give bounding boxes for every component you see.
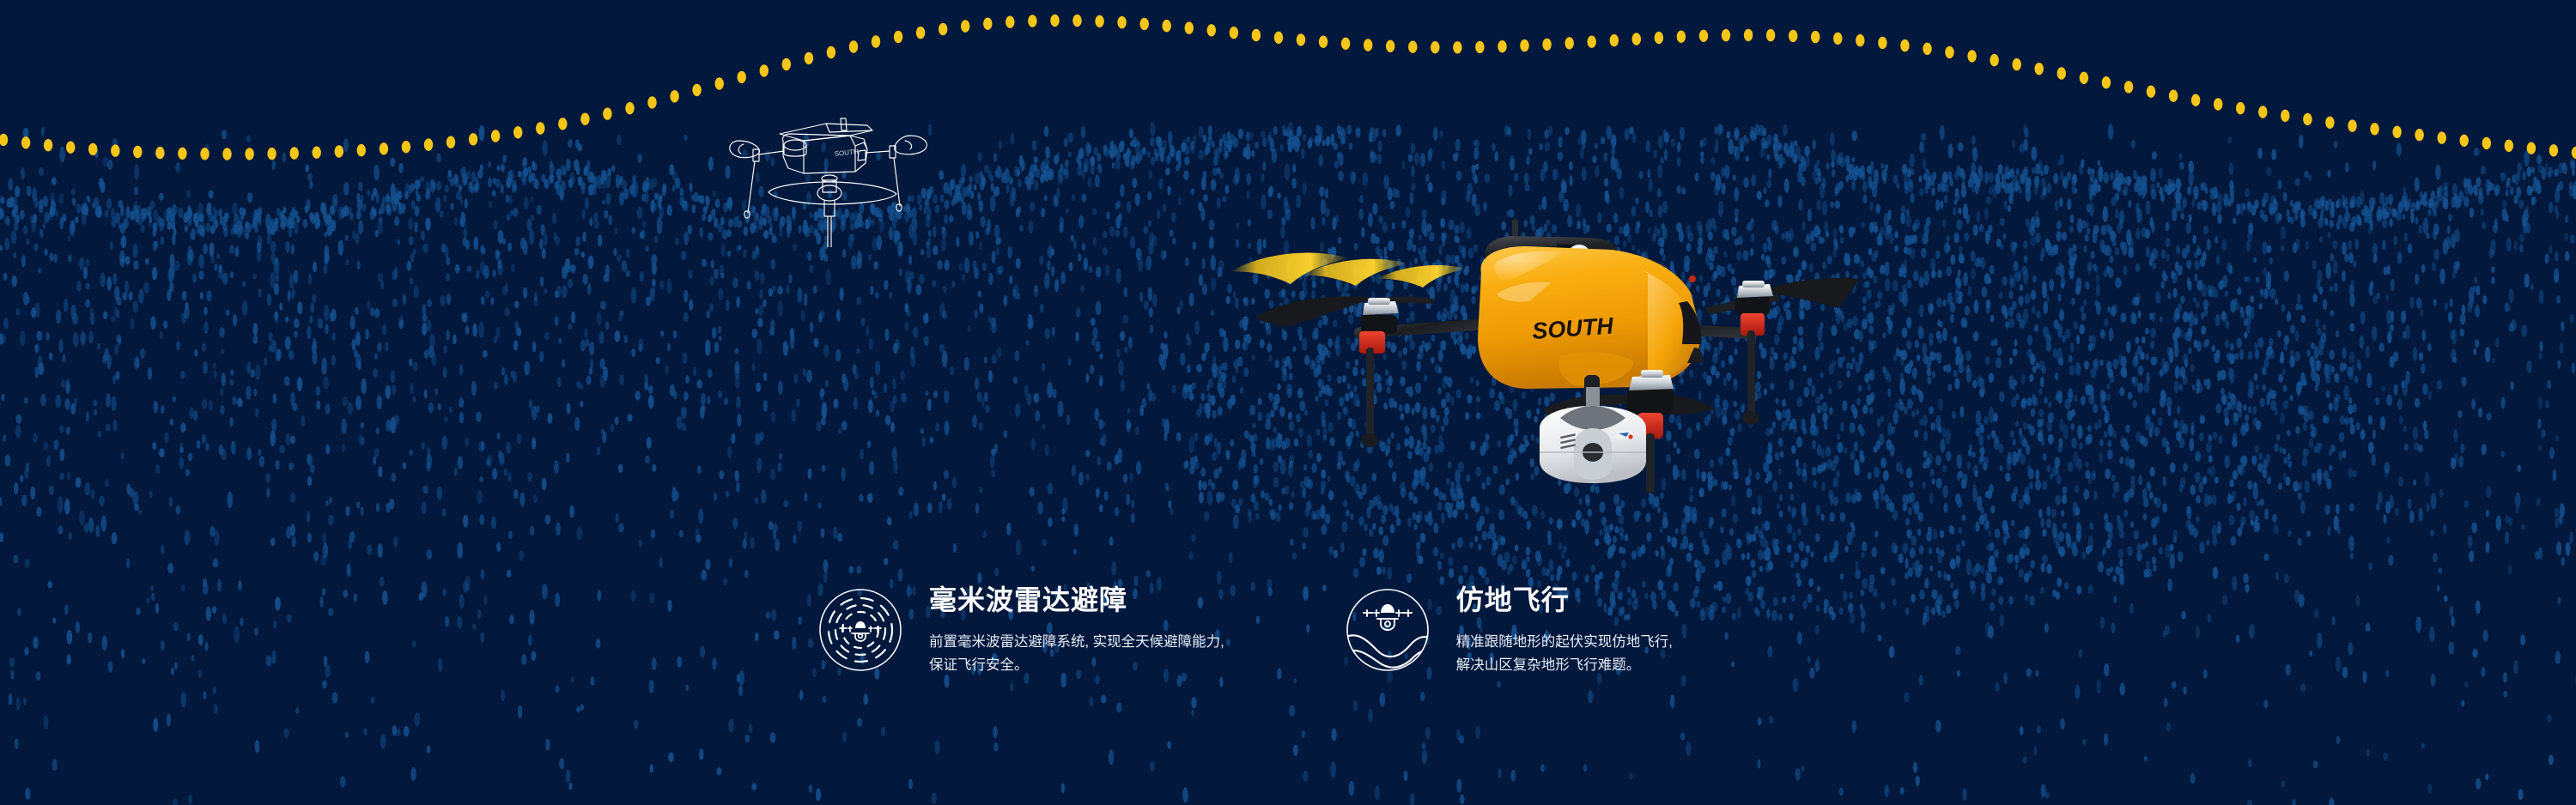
drone-fuselage: SOUTH — [1478, 219, 1703, 389]
feature-desc-line: 解决山区复杂地形飞行难题。 — [1456, 654, 1673, 677]
feature-title: 毫米波雷达避障 — [929, 585, 1224, 615]
feature-description: 前置毫米波雷达避障系统, 实现全天候避障能力, 保证飞行安全。 — [929, 631, 1224, 677]
feature-item-terrain-follow: 仿地飞行 精准跟随地形的起伏实现仿地飞行, 解决山区复杂地形飞行难题。 — [1345, 580, 1673, 678]
feature-description: 精准跟随地形的起伏实现仿地飞行, 解决山区复杂地形飞行难题。 — [1456, 631, 1673, 677]
terrain-follow-drone-icon — [1345, 587, 1431, 673]
feature-desc-line: 保证飞行安全。 — [929, 654, 1224, 677]
feature-text-terrain-follow: 仿地飞行 精准跟随地形的起伏实现仿地飞行, 解决山区复杂地形飞行难题。 — [1456, 580, 1673, 678]
feature-list: 毫米波雷达避障 前置毫米波雷达避障系统, 实现全天候避障能力, 保证飞行安全。 — [0, 580, 2576, 752]
feature-item-radar: 毫米波雷达避障 前置毫米波雷达避障系统, 实现全天候避障能力, 保证飞行安全。 — [817, 580, 1224, 678]
hero-banner: SOUTH — [0, 0, 2576, 805]
feature-text-radar: 毫米波雷达避障 前置毫米波雷达避障系统, 实现全天候避障能力, 保证飞行安全。 — [929, 580, 1224, 678]
drone-product-image: SOUTH — [1224, 219, 1893, 493]
feature-desc-line: 精准跟随地形的起伏实现仿地飞行, — [1456, 631, 1673, 654]
wireframe-drone-illustration: SOUTH — [721, 110, 953, 247]
radar-wave-arcs — [1230, 252, 1466, 287]
radar-drone-icon — [817, 587, 903, 673]
feature-desc-line: 前置毫米波雷达避障系统, 实现全天候避障能力, — [929, 631, 1224, 654]
feature-title: 仿地飞行 — [1456, 585, 1673, 615]
